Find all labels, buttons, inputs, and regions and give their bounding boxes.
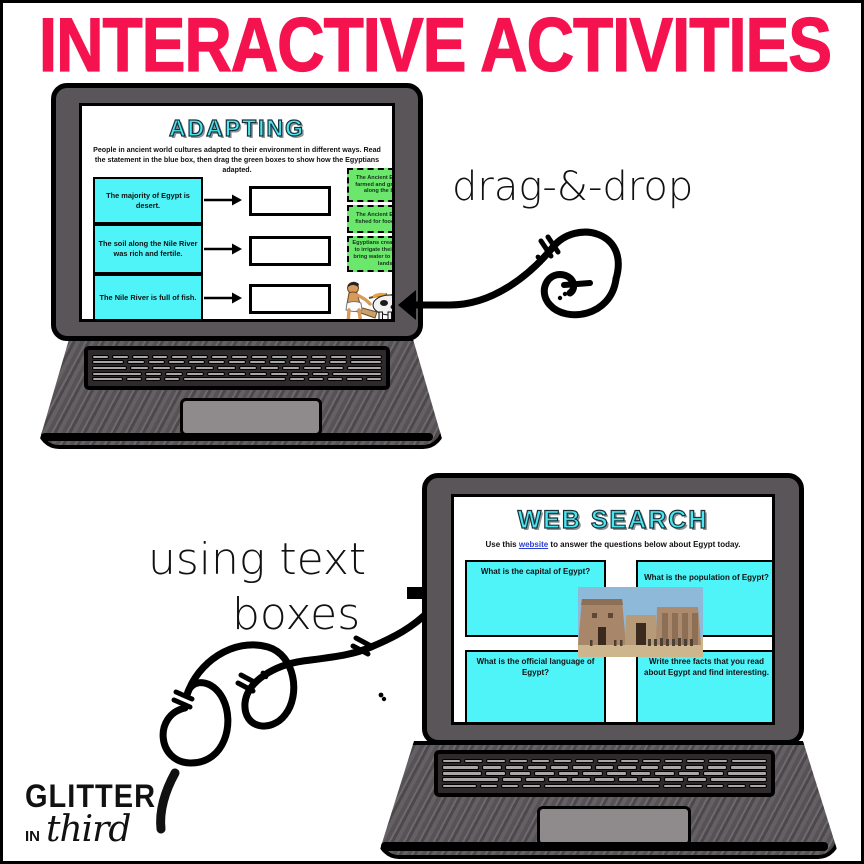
laptop-two: WEB SEARCH Use this website to answer th… <box>377 473 832 863</box>
page-title: INTERACTIVE ACTIVITIES <box>0 9 864 85</box>
logo-swash-icon <box>155 771 181 833</box>
laptop-two-foot <box>381 842 828 851</box>
laptop-two-screen[interactable]: WEB SEARCH Use this website to answer th… <box>451 494 775 725</box>
blue-statement-box[interactable]: The Nile River is full of fish. <box>93 274 203 322</box>
arrow-icon <box>204 291 242 305</box>
laptop-one-screen[interactable]: ADAPTING People in ancient world culture… <box>79 103 395 322</box>
laptop-one: ADAPTING People in ancient world culture… <box>37 83 437 453</box>
curly-arrow-to-laptop-one <box>398 213 628 328</box>
slide-one-title: ADAPTING <box>82 115 392 142</box>
website-link[interactable]: website <box>519 540 548 549</box>
drop-target-box[interactable] <box>249 236 331 266</box>
laptop-one-keyboard[interactable] <box>84 346 390 390</box>
slide-adapting: ADAPTING People in ancient world culture… <box>82 106 392 319</box>
logo-word-in: IN <box>25 828 40 845</box>
annotation-drag-drop: drag-&-drop <box>452 166 693 208</box>
question-box-language[interactable]: What is the official language of Egypt? <box>465 650 606 725</box>
arrow-icon <box>204 242 242 256</box>
logo-word-glitter: GLITTER <box>25 779 156 816</box>
laptop-one-foot <box>41 433 433 441</box>
laptop-one-base <box>37 337 437 441</box>
slide-web-search: WEB SEARCH Use this website to answer th… <box>454 497 772 722</box>
laptop-two-base <box>377 741 832 851</box>
laptop-one-lid: ADAPTING People in ancient world culture… <box>51 83 423 341</box>
blue-statement-box[interactable]: The soil along the Nile River was rich a… <box>93 224 203 274</box>
slide-two-title: WEB SEARCH <box>454 506 772 535</box>
blue-statement-box[interactable]: The majority of Egypt is desert. <box>93 177 203 224</box>
drop-target-box[interactable] <box>249 284 331 314</box>
brand-logo: GLITTER IN third <box>25 781 156 845</box>
slide-two-instructions: Use this website to answer the questions… <box>454 540 772 549</box>
laptop-two-keyboard[interactable] <box>434 750 775 797</box>
green-draggable-box[interactable]: The Ancient Egyptians farmed and grew cr… <box>347 168 395 202</box>
logo-word-third: third <box>46 816 130 845</box>
egyptian-temple-photo <box>578 587 703 657</box>
laptop-two-lid: WEB SEARCH Use this website to answer th… <box>422 473 804 745</box>
laptop-one-trackpad[interactable] <box>180 398 322 436</box>
arrow-icon <box>204 193 242 207</box>
laptop-two-trackpad[interactable] <box>537 806 691 846</box>
instruction-text-before: Use this <box>486 540 519 549</box>
instruction-text-after: to answer the questions below about Egyp… <box>548 540 740 549</box>
egyptian-farmer-clipart <box>335 278 395 322</box>
green-draggable-box[interactable]: The Ancient Egyptians fished for food & … <box>347 205 395 233</box>
poster-canvas: INTERACTIVE ACTIVITIES ADAPTING People i… <box>0 0 864 864</box>
slide-one-instructions: People in ancient world cultures adapted… <box>92 145 382 175</box>
question-box-three-facts[interactable]: Write three facts that you read about Eg… <box>636 650 775 725</box>
drop-target-box[interactable] <box>249 186 331 216</box>
green-draggable-box[interactable]: Egyptians created canals to irrigate the… <box>347 236 395 272</box>
annotation-using-text-boxes-line1: using text <box>148 537 366 583</box>
